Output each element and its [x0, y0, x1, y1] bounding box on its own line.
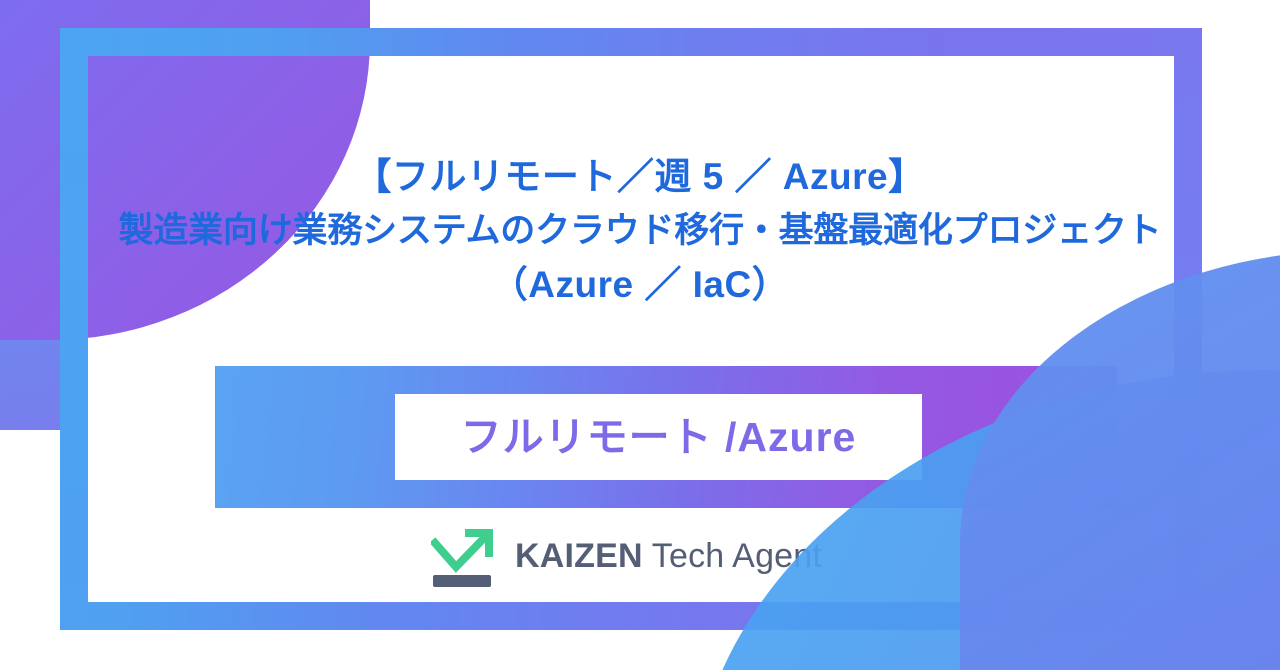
growth-arrow-check-icon [431, 527, 499, 589]
badge-box: フルリモート /Azure [395, 394, 922, 480]
brand-logo: KAIZEN Tech Agent [431, 520, 851, 596]
status-badge: フルリモート /Azure [461, 417, 857, 458]
brand-suffix: Tech Agent [643, 537, 822, 575]
banner-canvas: 【フルリモート／週 5 ／ Azure】 製造業向け業務システムのクラウド移行・… [0, 0, 1280, 670]
headline-line-2: 製造業向け業務システムのクラウド移行・基盤最適化プロジェクト [50, 204, 1230, 258]
page-title: 【フルリモート／週 5 ／ Azure】 製造業向け業務システムのクラウド移行・… [50, 150, 1230, 312]
brand-logo-text: KAIZEN Tech Agent [515, 539, 822, 577]
banner-content: 【フルリモート／週 5 ／ Azure】 製造業向け業務システムのクラウド移行・… [0, 0, 1280, 670]
headline-line-1: 【フルリモート／週 5 ／ Azure】 [50, 150, 1230, 204]
headline-line-3: （Azure ／ IaC） [50, 258, 1230, 312]
brand-name: KAIZEN [515, 537, 643, 575]
